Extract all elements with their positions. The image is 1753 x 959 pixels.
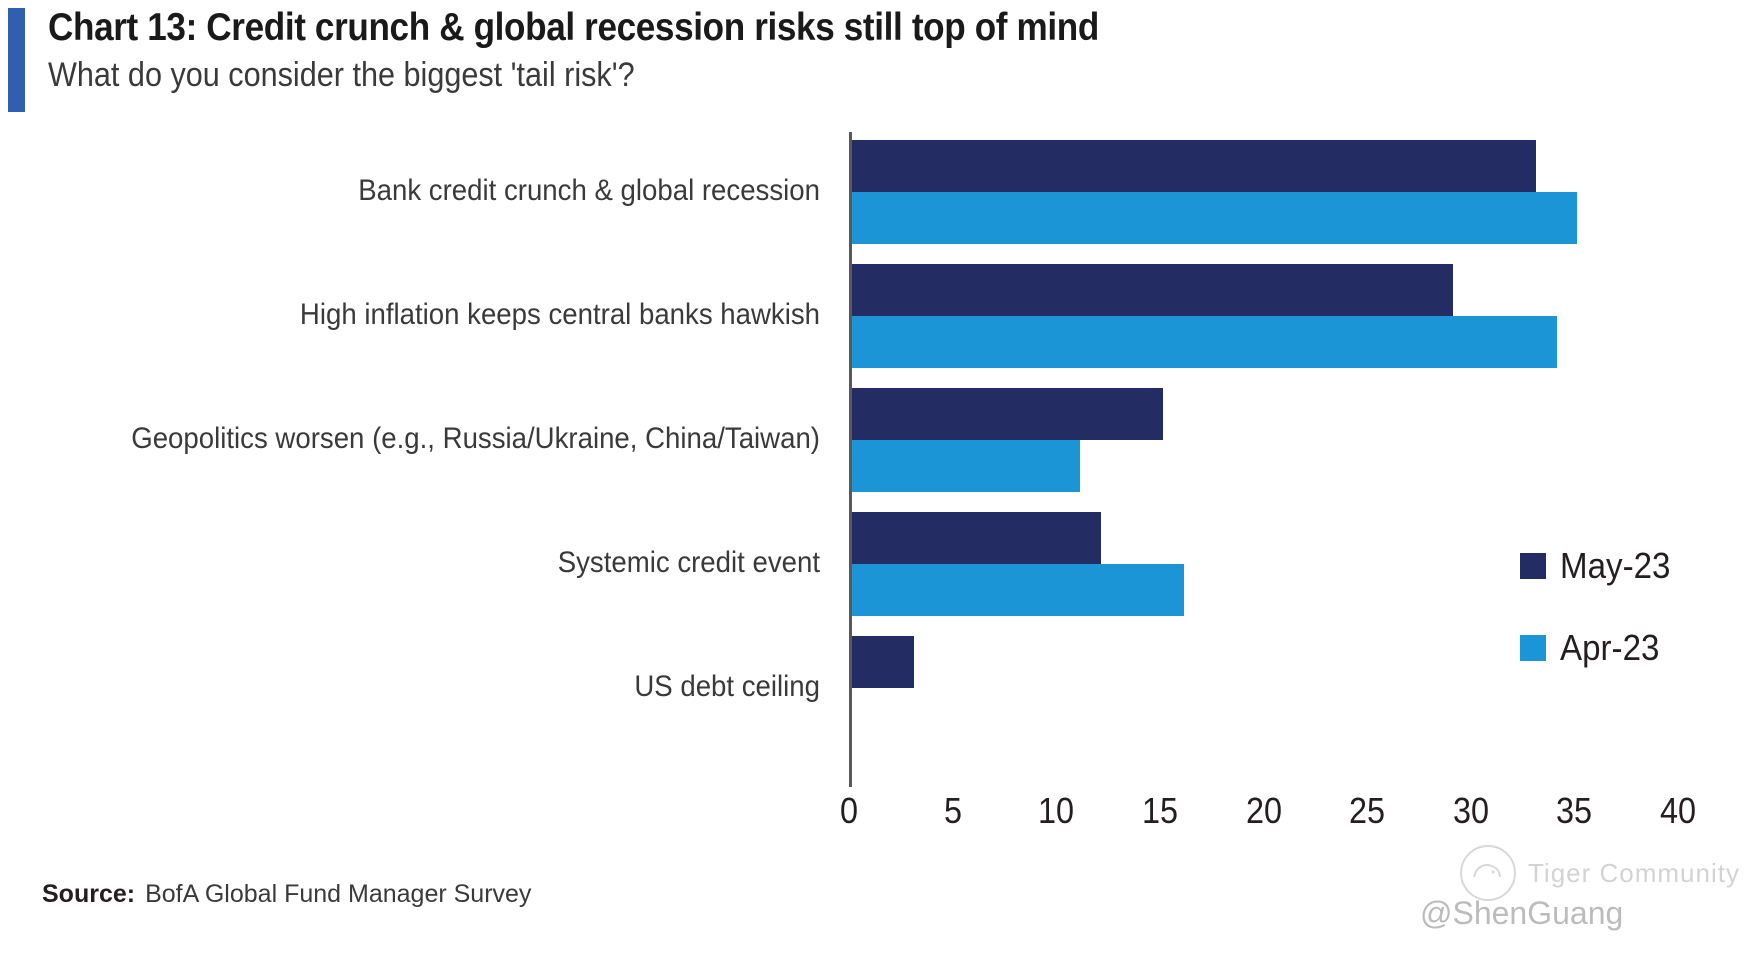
legend-label: Apr-23 bbox=[1560, 627, 1659, 669]
x-tick-label-5: 5 bbox=[917, 790, 989, 832]
legend-item-apr-23: Apr-23 bbox=[1520, 627, 1668, 669]
category-label-1: High inflation keeps central banks hawki… bbox=[66, 298, 820, 332]
bar-apr-23-3 bbox=[852, 564, 1184, 616]
legend-item-may-23: May-23 bbox=[1520, 545, 1680, 587]
chart-plot-area: Bank credit crunch & global recessionHig… bbox=[0, 118, 1753, 838]
watermark-brand: Tiger Community bbox=[1528, 858, 1740, 889]
legend-label: May-23 bbox=[1560, 545, 1670, 587]
x-tick-label-10: 10 bbox=[1020, 790, 1092, 832]
bar-may-23-0 bbox=[852, 140, 1536, 192]
chart-subtitle: What do you consider the biggest 'tail r… bbox=[48, 56, 635, 95]
bar-may-23-4 bbox=[852, 636, 914, 688]
bar-may-23-1 bbox=[852, 264, 1453, 316]
page-title: Chart 13: Credit crunch & global recessi… bbox=[48, 6, 1099, 50]
bar-may-23-2 bbox=[852, 388, 1163, 440]
watermark-handle: @ShenGuang bbox=[1420, 895, 1623, 932]
watermark: Tiger Community bbox=[1460, 845, 1740, 901]
bar-apr-23-0 bbox=[852, 192, 1577, 244]
category-label-3: Systemic credit event bbox=[66, 546, 820, 580]
source-note: Source:BofA Global Fund Manager Survey bbox=[42, 880, 531, 909]
legend-swatch-icon bbox=[1520, 635, 1546, 661]
x-tick-label-40: 40 bbox=[1642, 790, 1714, 832]
x-tick-label-15: 15 bbox=[1124, 790, 1196, 832]
legend-swatch-icon bbox=[1520, 553, 1546, 579]
source-text: BofA Global Fund Manager Survey bbox=[145, 880, 531, 908]
category-label-0: Bank credit crunch & global recession bbox=[66, 174, 820, 208]
source-label: Source: bbox=[42, 880, 135, 908]
x-tick-label-20: 20 bbox=[1228, 790, 1300, 832]
tiger-logo-icon bbox=[1460, 845, 1516, 901]
chart-header: Chart 13: Credit crunch & global recessi… bbox=[0, 0, 1753, 118]
category-label-4: US debt ceiling bbox=[66, 670, 820, 704]
x-tick-label-35: 35 bbox=[1538, 790, 1610, 832]
bar-apr-23-2 bbox=[852, 440, 1080, 492]
x-tick-label-30: 30 bbox=[1435, 790, 1507, 832]
x-axis-ticks: 0510152025303540 bbox=[0, 790, 1753, 850]
bar-apr-23-1 bbox=[852, 316, 1557, 368]
category-label-2: Geopolitics worsen (e.g., Russia/Ukraine… bbox=[66, 422, 820, 456]
bar-may-23-3 bbox=[852, 512, 1101, 564]
x-tick-label-25: 25 bbox=[1331, 790, 1403, 832]
x-tick-label-0: 0 bbox=[813, 790, 885, 832]
accent-bar bbox=[8, 8, 25, 112]
